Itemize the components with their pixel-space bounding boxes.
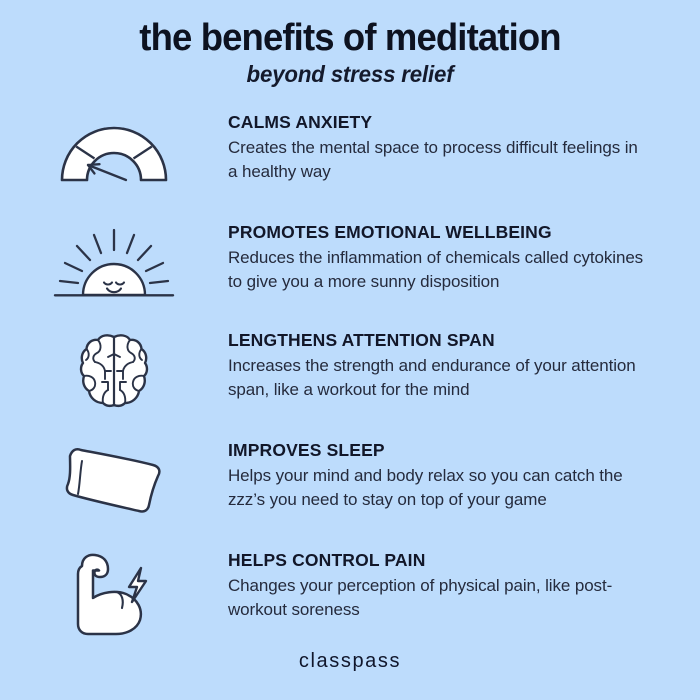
benefit-title: IMPROVES SLEEP bbox=[228, 440, 682, 460]
icon-cell bbox=[0, 440, 228, 516]
icon-cell bbox=[0, 112, 228, 186]
page-title: the benefits of meditation bbox=[14, 18, 686, 59]
text-cell: CALMS ANXIETY Creates the mental space t… bbox=[228, 112, 700, 184]
benefit-body: Reduces the inflammation of chemicals ca… bbox=[228, 246, 648, 294]
benefit-row-attention-span: LENGTHENS ATTENTION SPAN Increases the s… bbox=[0, 330, 700, 408]
poster-footer: classpass bbox=[0, 650, 700, 673]
text-cell: IMPROVES SLEEP Helps your mind and body … bbox=[228, 440, 700, 512]
flexed-bicep-icon bbox=[62, 552, 166, 638]
benefit-title: HELPS CONTROL PAIN bbox=[228, 550, 682, 570]
benefit-body: Changes your perception of physical pain… bbox=[228, 574, 648, 622]
pillow-icon bbox=[58, 442, 170, 516]
icon-cell bbox=[0, 330, 228, 408]
gauge-icon bbox=[58, 114, 170, 186]
classpass-logo: classpass bbox=[299, 650, 401, 672]
benefit-row-calms-anxiety: CALMS ANXIETY Creates the mental space t… bbox=[0, 112, 700, 186]
infographic-poster: the benefits of meditation beyond stress… bbox=[0, 0, 700, 700]
text-cell: LENGTHENS ATTENTION SPAN Increases the s… bbox=[228, 330, 700, 402]
smiling-sunrise-icon bbox=[49, 224, 179, 306]
text-cell: PROMOTES EMOTIONAL WELLBEING Reduces the… bbox=[228, 222, 700, 294]
benefit-title: CALMS ANXIETY bbox=[228, 112, 682, 132]
benefit-row-emotional-wellbeing: PROMOTES EMOTIONAL WELLBEING Reduces the… bbox=[0, 222, 700, 306]
poster-header: the benefits of meditation beyond stress… bbox=[0, 18, 700, 88]
benefit-title: PROMOTES EMOTIONAL WELLBEING bbox=[228, 222, 682, 242]
benefit-row-improves-sleep: IMPROVES SLEEP Helps your mind and body … bbox=[0, 440, 700, 516]
benefit-row-control-pain: HELPS CONTROL PAIN Changes your percepti… bbox=[0, 550, 700, 638]
benefit-body: Helps your mind and body relax so you ca… bbox=[228, 464, 648, 512]
icon-cell bbox=[0, 550, 228, 638]
icon-cell bbox=[0, 222, 228, 306]
brain-icon bbox=[77, 332, 151, 408]
text-cell: HELPS CONTROL PAIN Changes your percepti… bbox=[228, 550, 700, 622]
benefit-title: LENGTHENS ATTENTION SPAN bbox=[228, 330, 682, 350]
benefit-body: Increases the strength and endurance of … bbox=[228, 354, 648, 402]
page-subtitle: beyond stress relief bbox=[11, 61, 690, 88]
benefit-body: Creates the mental space to process diff… bbox=[228, 136, 648, 184]
